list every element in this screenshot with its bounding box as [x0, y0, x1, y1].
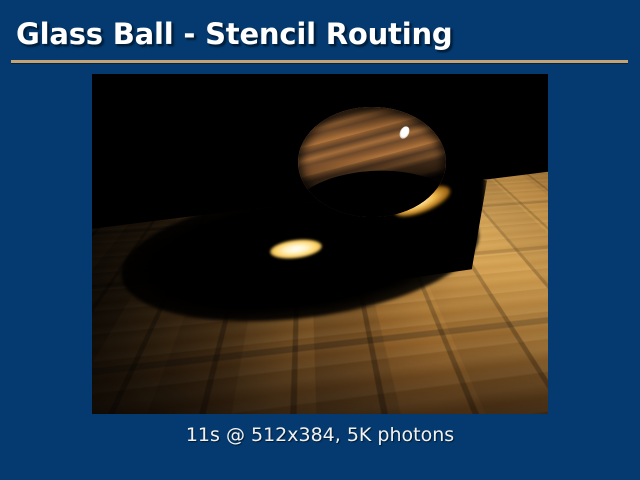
slide: Glass Ball - Stencil Routing — [0, 0, 640, 480]
page-title: Glass Ball - Stencil Routing — [16, 17, 452, 51]
rendered-image — [92, 74, 548, 414]
ball-rim-shading — [298, 107, 446, 217]
title-divider — [11, 60, 628, 63]
figure-caption: 11s @ 512x384, 5K photons — [0, 424, 640, 446]
glass-ball — [298, 107, 446, 217]
render-figure — [92, 74, 548, 414]
